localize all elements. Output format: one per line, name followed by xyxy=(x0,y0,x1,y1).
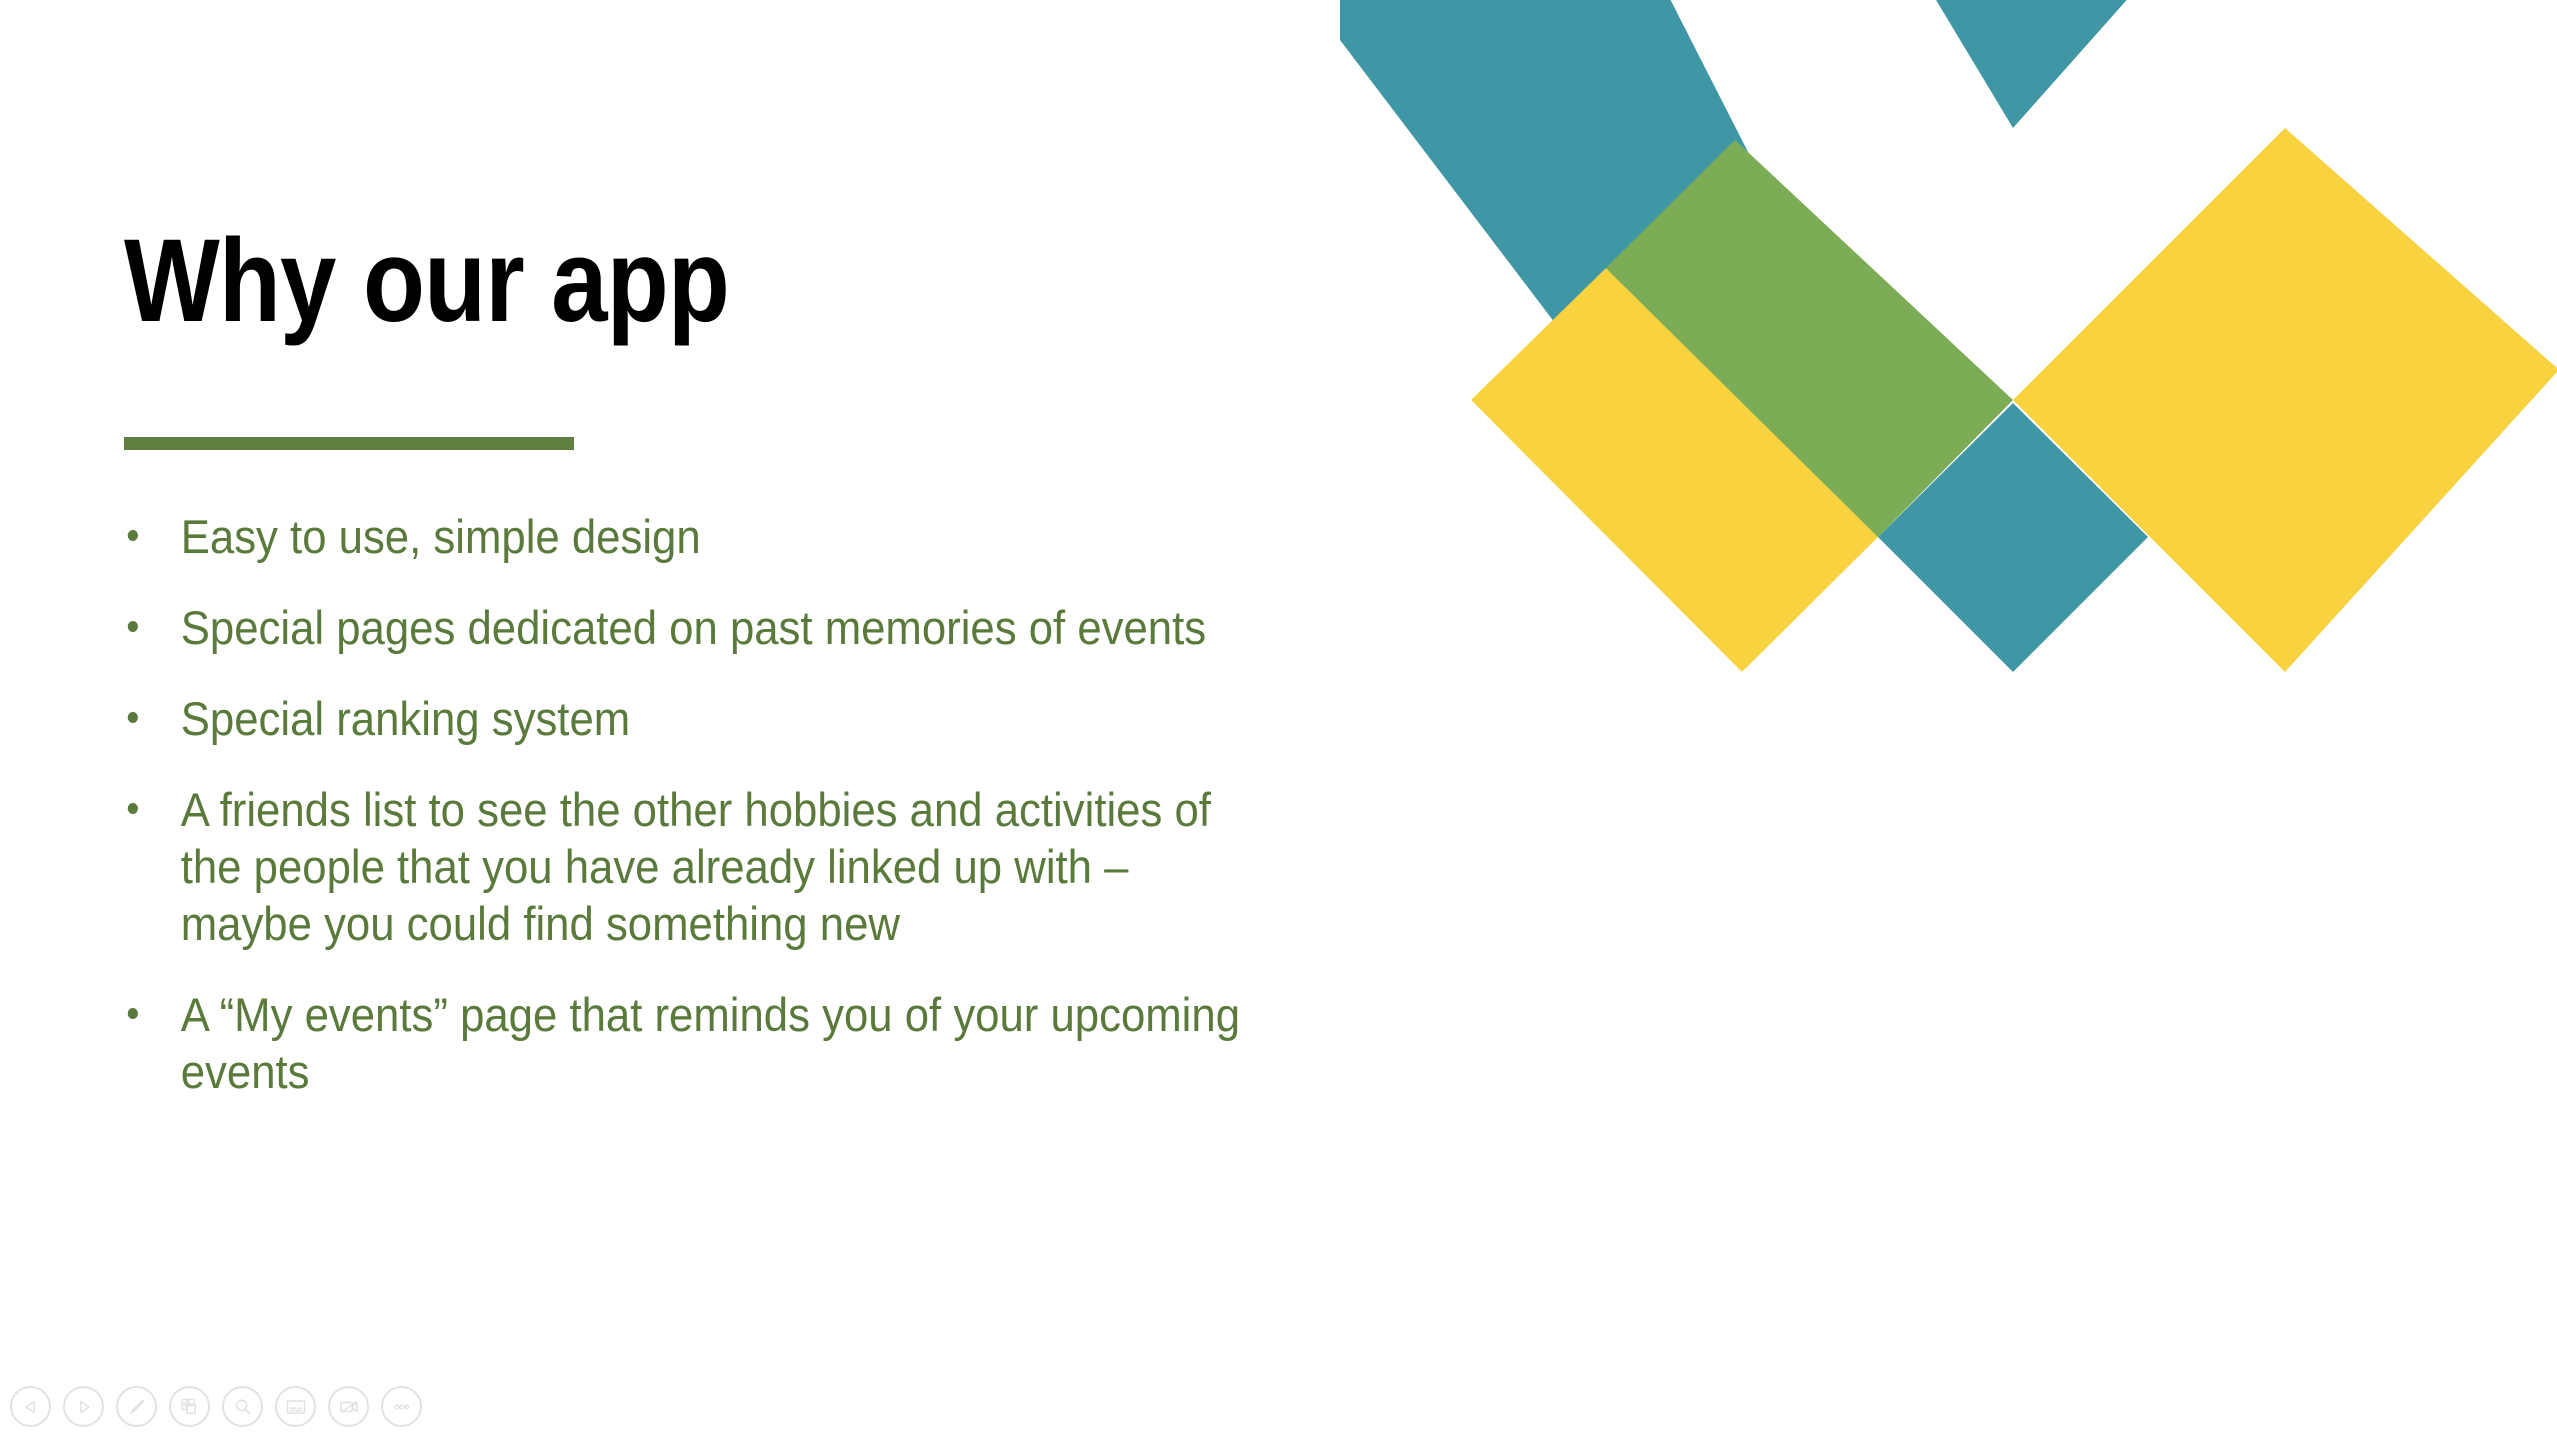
list-item-text: Special ranking system xyxy=(181,690,1445,747)
all-slides-button[interactable] xyxy=(169,1386,210,1427)
list-item: Easy to use, simple design xyxy=(124,508,1445,565)
list-item: A “My events” page that reminds you of y… xyxy=(124,986,1445,1100)
subtitles-icon xyxy=(285,1397,307,1417)
teal-chevron-shape xyxy=(1900,0,2180,128)
bullet-dot-icon xyxy=(128,1008,138,1019)
more-options-button[interactable] xyxy=(381,1386,422,1427)
triangle-right-icon xyxy=(75,1398,93,1416)
bullet-list: Easy to use, simple design Special pages… xyxy=(124,508,1544,1100)
previous-slide-button[interactable] xyxy=(10,1386,51,1427)
teal-lower-diamond-shape xyxy=(1878,403,2148,672)
bullet-dot-icon xyxy=(128,803,138,814)
list-item-text: Easy to use, simple design xyxy=(181,508,1445,565)
bullet-dot-icon xyxy=(128,621,138,632)
title-block: Why our app xyxy=(124,222,1324,340)
teal-band-shape xyxy=(1340,0,1882,560)
green-overlap-shape-lower xyxy=(1606,140,1882,537)
title-accent-bar xyxy=(124,437,574,450)
zoom-button[interactable] xyxy=(222,1386,263,1427)
camera-off-button[interactable] xyxy=(328,1386,369,1427)
list-item: Special pages dedicated on past memories… xyxy=(124,599,1445,656)
ellipsis-icon xyxy=(392,1403,412,1411)
yellow-right-diamond-shape xyxy=(2013,128,2557,672)
bullet-dot-icon xyxy=(128,712,138,723)
slide-grid-icon xyxy=(179,1396,200,1417)
magnifier-icon xyxy=(233,1397,253,1417)
list-item-text: A “My events” page that reminds you of y… xyxy=(181,986,1445,1100)
pen-icon xyxy=(127,1397,147,1417)
presenter-toolbar xyxy=(10,1386,422,1427)
camera-off-icon xyxy=(338,1397,360,1417)
green-overlap-shape xyxy=(1606,140,2013,537)
list-item: A friends list to see the other hobbies … xyxy=(124,781,1445,952)
bullet-dot-icon xyxy=(128,530,138,541)
list-item: Special ranking system xyxy=(124,690,1445,747)
page-title: Why our app xyxy=(124,222,1156,340)
subtitles-button[interactable] xyxy=(275,1386,316,1427)
list-item-text: Special pages dedicated on past memories… xyxy=(181,599,1445,656)
list-item-text: A friends list to see the other hobbies … xyxy=(181,781,1445,952)
pen-tools-button[interactable] xyxy=(116,1386,157,1427)
triangle-left-icon xyxy=(22,1398,40,1416)
presentation-slide: Why our app Easy to use, simple design S… xyxy=(0,0,2557,1435)
next-slide-button[interactable] xyxy=(63,1386,104,1427)
